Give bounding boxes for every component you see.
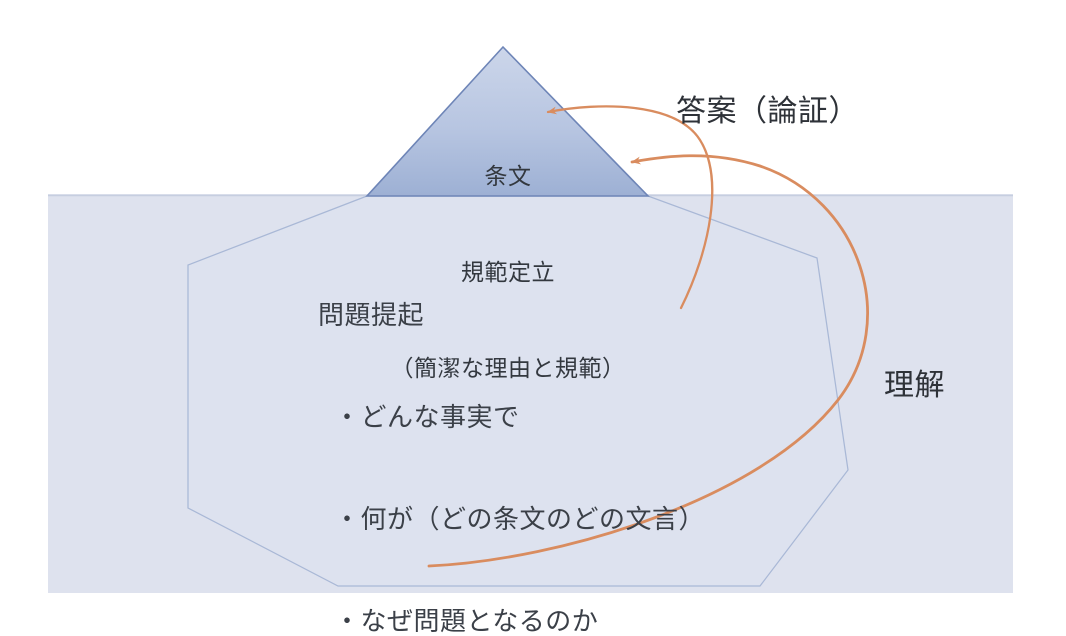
body-line-3: ・何が（どの条文のどの文言）: [318, 502, 705, 536]
body-line-1: 問題提起: [318, 298, 705, 332]
iceberg-diagram-canvas: 条文 規範定立 （簡潔な理由と規範） 答案（論証） 理解 問題提起 ・どんな事実…: [0, 0, 1066, 636]
tip-line-1: 条文: [367, 160, 649, 192]
answer-annotation-label: 答案（論証）: [676, 97, 859, 127]
iceberg-submerged-text-block: 問題提起 ・どんな事実で ・何が（どの条文のどの文言） ・なぜ問題となるのか 規…: [318, 230, 705, 636]
body-line-2: ・どんな事実で: [318, 400, 705, 434]
body-line-4: ・なぜ問題となるのか: [318, 604, 705, 636]
understanding-annotation-label: 理解: [884, 371, 945, 401]
